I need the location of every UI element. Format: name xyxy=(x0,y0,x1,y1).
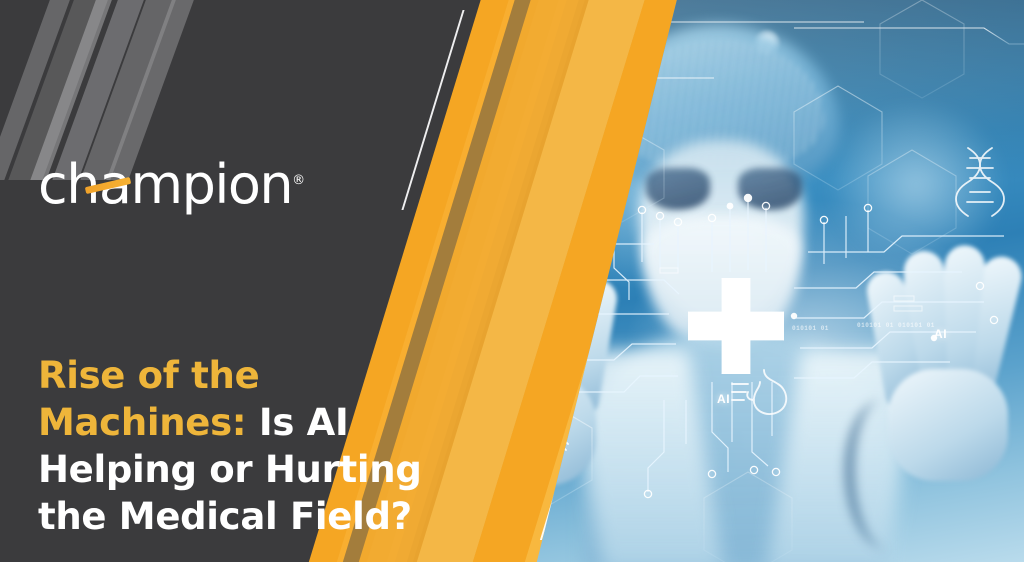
ai-label-3: AI xyxy=(717,392,730,406)
logo-wordmark: champion® xyxy=(38,153,305,216)
headline: Rise of the Machines: Is AI Helping or H… xyxy=(38,352,468,540)
hand-r-finger-5 xyxy=(888,369,1008,481)
binary-label-2: 010101 01 xyxy=(792,325,829,332)
registered-mark-icon: ® xyxy=(292,173,305,188)
champion-logo[interactable]: champion® xyxy=(38,150,305,212)
gloved-hand-right xyxy=(864,245,1014,485)
banner-graphic: AI AI AI AI 010101 01 010101 01 010101 0… xyxy=(0,0,1024,562)
glasses-lens-left xyxy=(646,168,710,210)
ai-label-4: AI xyxy=(934,327,947,341)
logo-wordmark-text: champion xyxy=(38,153,292,216)
headline-accent: Rise of the Machines: xyxy=(38,354,259,444)
glasses-lens-right xyxy=(738,168,802,210)
binary-label-3: 010101 01 010101 01 xyxy=(857,322,935,329)
surgeon-glasses xyxy=(644,168,804,210)
